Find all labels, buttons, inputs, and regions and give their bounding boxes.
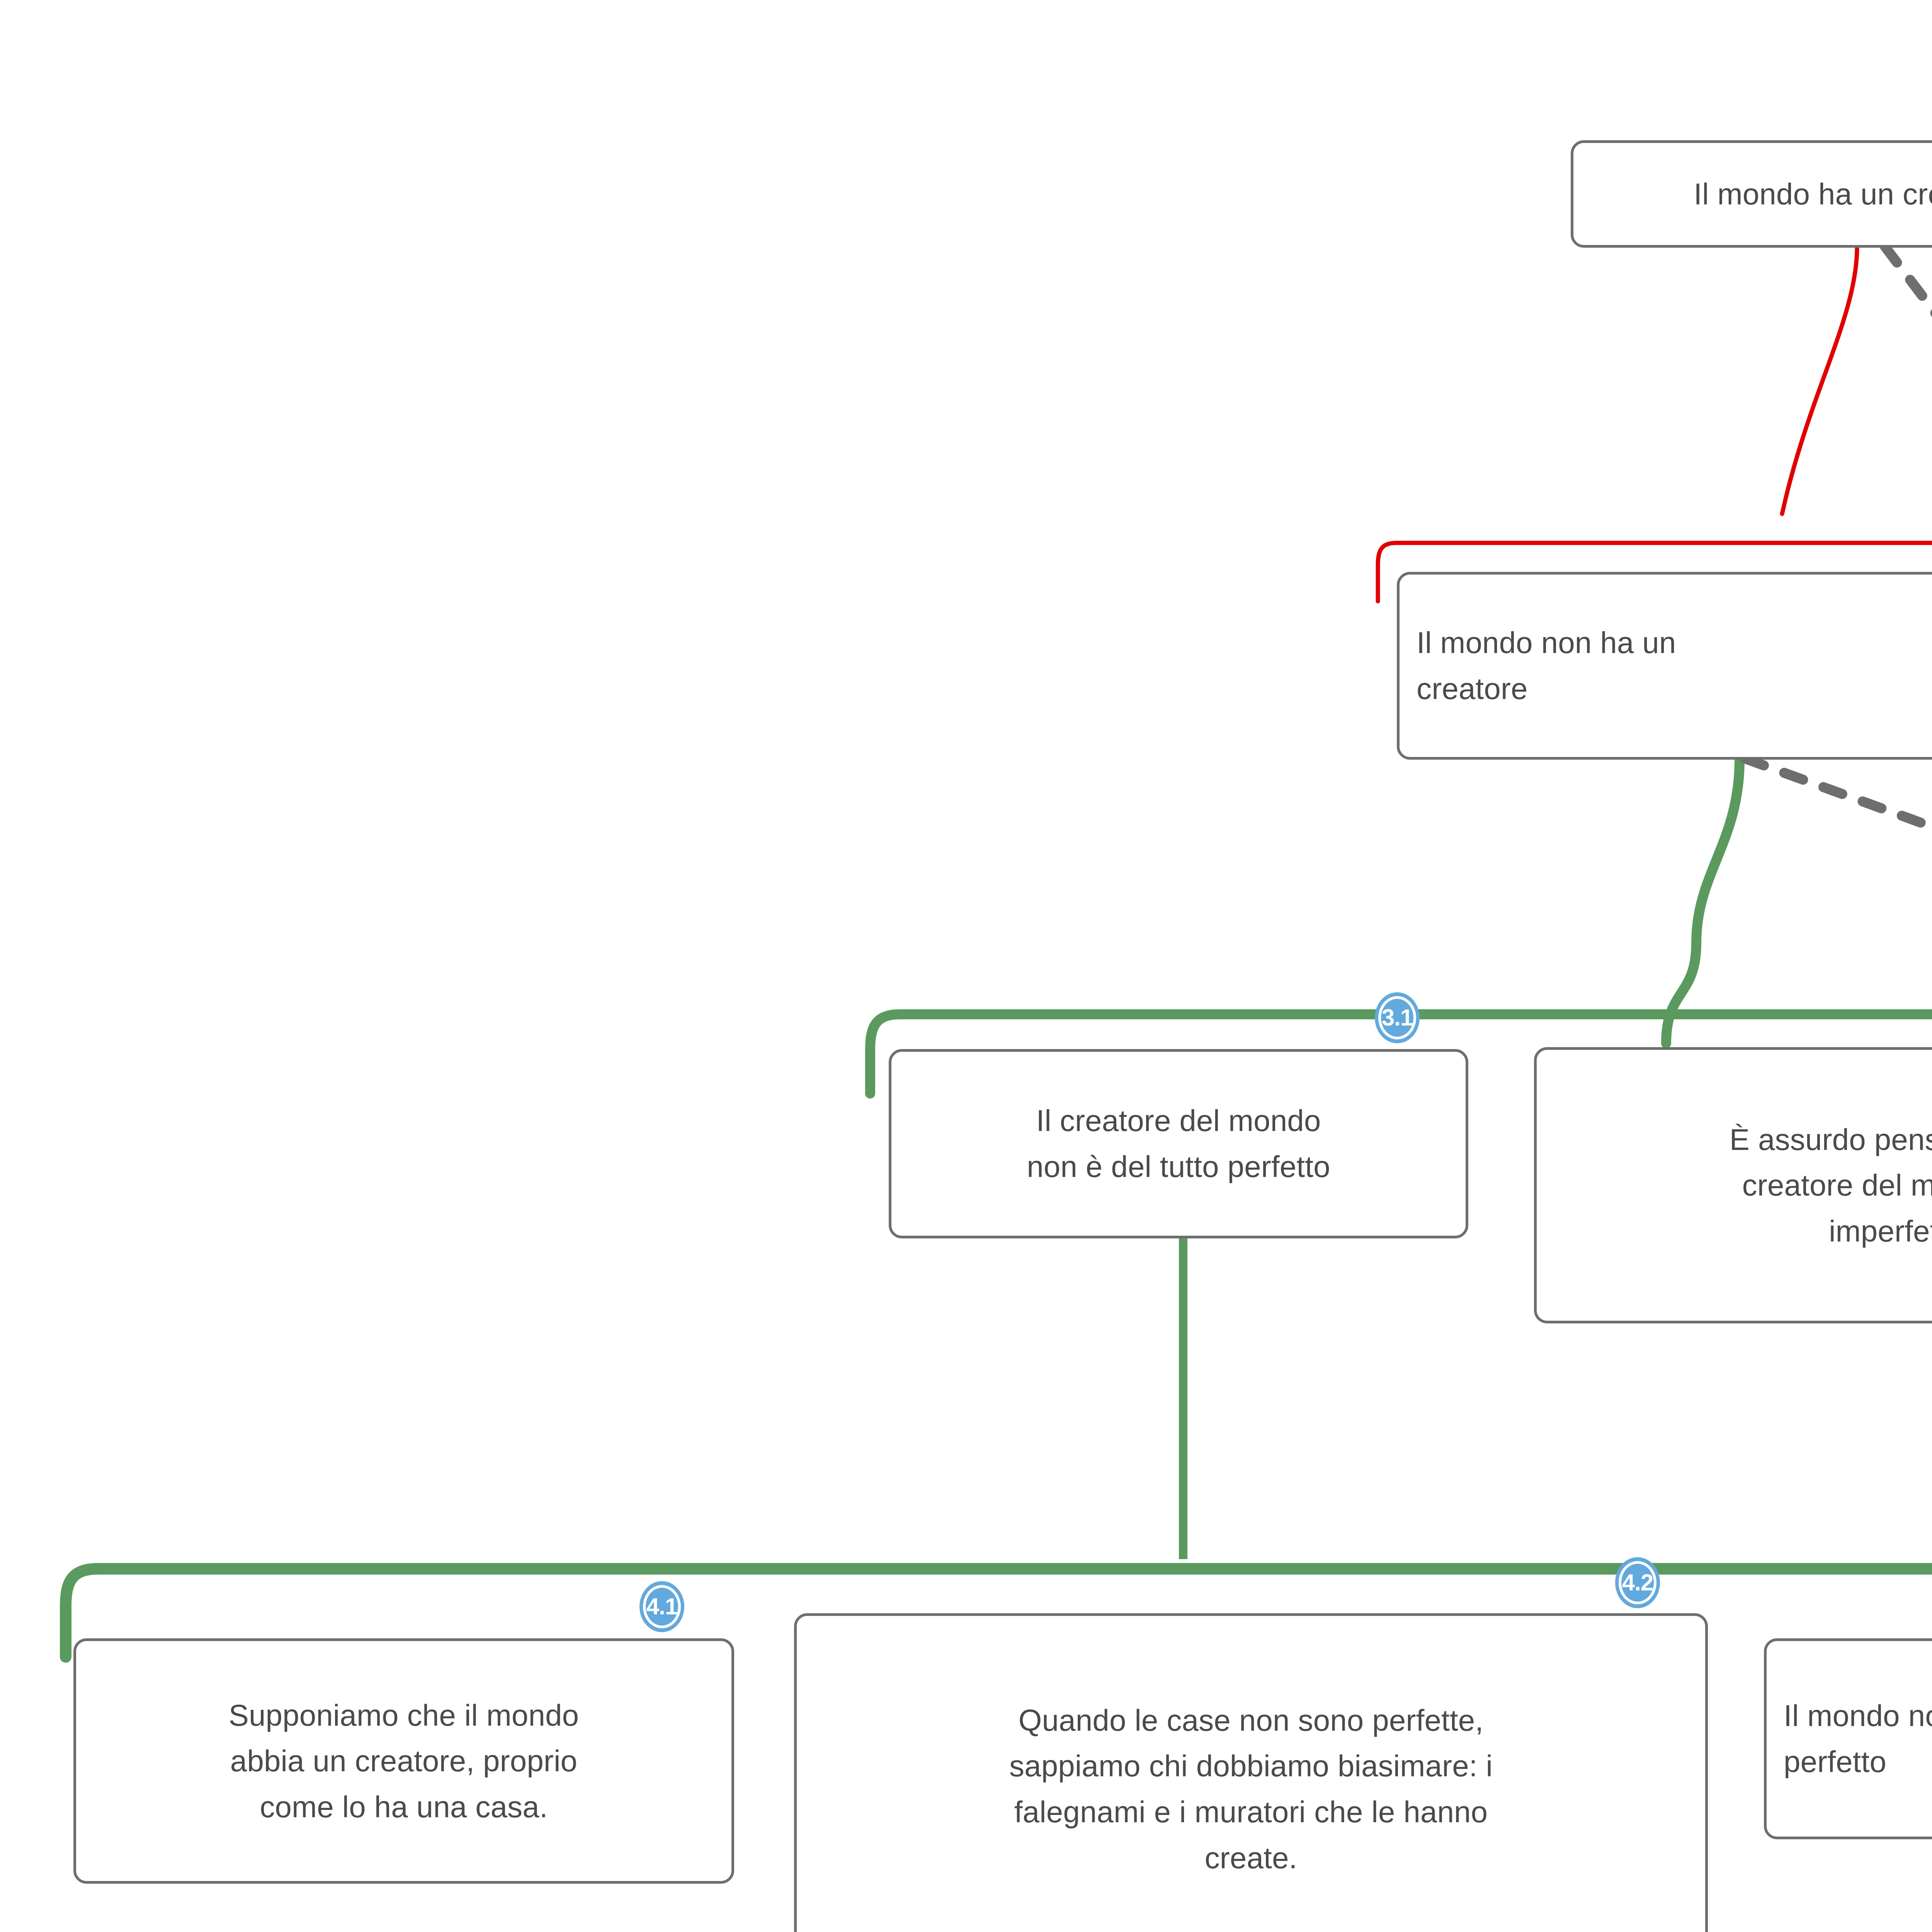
argument-node-2-1-text: Il mondo non ha un creatore [1400, 620, 1932, 711]
node-badge-4-1[interactable]: 4.1 [639, 1581, 684, 1632]
argument-node-1-1[interactable]: Il mondo ha un creatore [1571, 140, 1932, 248]
objection-bracket-2-1-left-end [1378, 543, 1397, 601]
objection-edge-1-1-to-2-1 [1782, 247, 1857, 514]
argument-node-2-1[interactable]: Il mondo non ha un creatore [1397, 572, 1932, 760]
node-badge-3-1-label: 3.1 [1382, 1006, 1413, 1029]
node-badge-4-2-label: 4.2 [1622, 1571, 1653, 1594]
argument-node-4-2-text: Quando le case non sono perfette, sappia… [797, 1697, 1705, 1881]
argument-node-4-1[interactable]: Supponiamo che il mondo abbia un creator… [73, 1638, 734, 1884]
argument-node-3-2-text: È assurdo pensare che il creatore del mo… [1537, 1117, 1932, 1254]
argument-map-canvas: Il mondo ha un creatore 1.1 Il mondo non… [0, 0, 1932, 1932]
node-badge-3-1[interactable]: 3.1 [1375, 992, 1420, 1043]
argument-node-4-1-text: Supponiamo che il mondo abbia un creator… [76, 1692, 731, 1830]
argument-node-3-1-text: Il creatore del mondo non è del tutto pe… [891, 1098, 1466, 1189]
argument-node-1-1-text: Il mondo ha un creatore [1573, 171, 1932, 217]
argument-node-4-3[interactable]: Il mondo non è perfetto [1764, 1638, 1932, 1839]
relation-edge-1-1-to-antitesi [1885, 247, 1932, 515]
node-badge-4-2[interactable]: 4.2 [1615, 1557, 1660, 1608]
argument-node-3-2[interactable]: È assurdo pensare che il creatore del mo… [1534, 1047, 1932, 1323]
support-edge-2-1-to-level3 [1666, 759, 1740, 1043]
node-badge-4-1-label: 4.1 [646, 1595, 677, 1618]
argument-node-3-1[interactable]: Il creatore del mondo non è del tutto pe… [889, 1049, 1468, 1238]
argument-node-4-3-text: Il mondo non è perfetto [1767, 1693, 1932, 1784]
argument-node-4-2[interactable]: Quando le case non sono perfette, sappia… [794, 1613, 1708, 1932]
relation-edge-2-1-to-tesi [1745, 759, 1932, 1010]
